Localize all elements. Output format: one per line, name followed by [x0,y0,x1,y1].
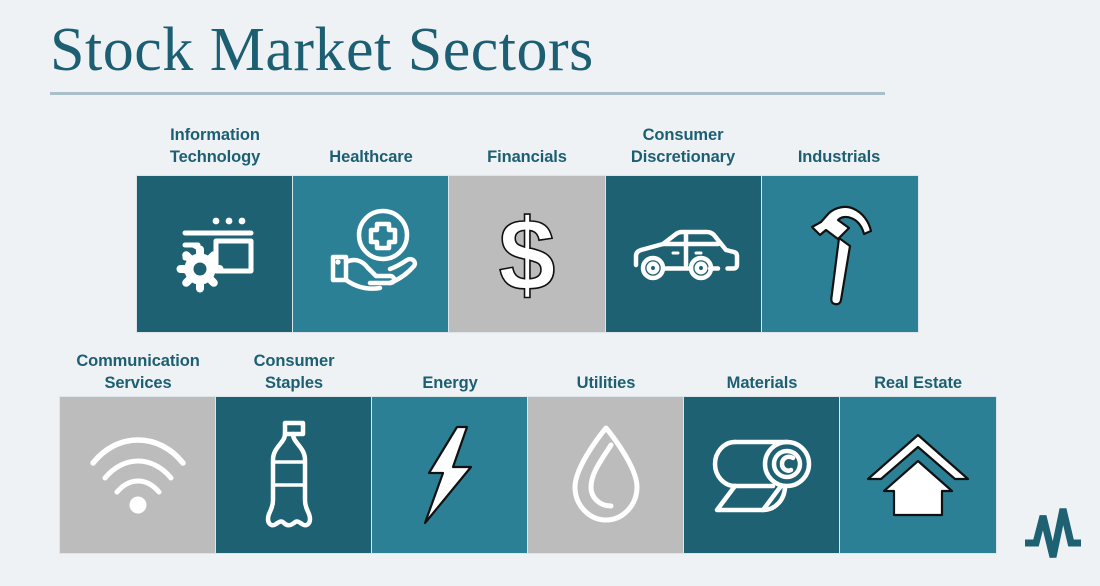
sector-tile-industrials[interactable] [762,176,918,332]
sector-tile-financials[interactable]: $ [449,176,605,332]
svg-text:$: $ [499,198,556,312]
sector-tile-materials[interactable] [684,397,840,553]
sector-label-energy: Energy [370,348,530,394]
house-icon [864,431,972,519]
sector-tile-utilities[interactable] [528,397,684,553]
sector-tile-communication-services[interactable] [60,397,216,553]
wifi-signal-icon [88,436,188,514]
sector-tile-real-estate[interactable] [840,397,996,553]
sector-label-healthcare: Healthcare [291,120,451,168]
sector-tile-healthcare[interactable] [293,176,449,332]
sector-label-consumer-staples: Consumer Staples [214,348,374,394]
water-droplet-icon [567,423,645,527]
sector-tile-energy[interactable] [372,397,528,553]
sector-label-real-estate: Real Estate [838,348,998,394]
infographic-canvas: Stock Market Sectors Information Technol… [0,0,1100,586]
material-roll-icon [709,434,815,516]
hand-medical-cross-icon [321,208,421,300]
pulse-wave-logo [1022,500,1084,562]
sector-tile-information-technology[interactable] [137,176,293,332]
sector-row-1: $ [137,176,918,332]
sector-label-communication-services: Communication Services [58,348,218,394]
sector-tile-consumer-staples[interactable] [216,397,372,553]
bottle-icon [263,419,325,531]
sector-label-utilities: Utilities [526,348,686,394]
sector-tile-consumer-discretionary[interactable] [606,176,762,332]
dollar-sign-icon: $ [487,202,567,306]
sector-label-consumer-discretionary: Consumer Discretionary [603,120,763,168]
sector-label-materials: Materials [682,348,842,394]
hammer-icon [801,202,879,306]
gear-browser-icon [167,211,263,297]
lightning-bolt-icon [419,425,481,525]
page-title: Stock Market Sectors [50,14,594,86]
title-divider [50,92,885,95]
sector-row-2 [60,397,996,553]
sector-label-information-technology: Information Technology [135,120,295,168]
car-icon [630,223,738,285]
sector-label-financials: Financials [447,120,607,168]
sector-label-industrials: Industrials [759,120,919,168]
